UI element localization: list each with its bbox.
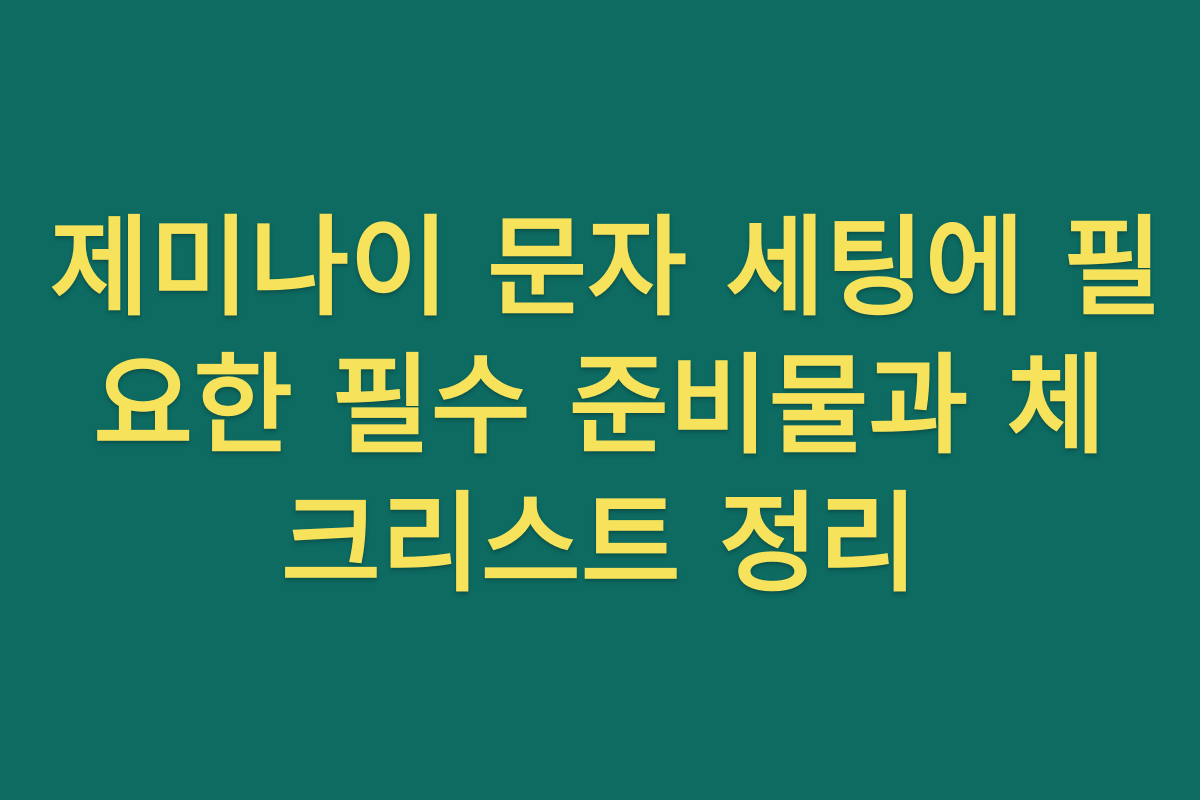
headline-line-2: 요한 필수 준비물과 체 — [50, 338, 1150, 476]
thumbnail-canvas: 제미나이 문자 세팅에 필 요한 필수 준비물과 체 크리스트 정리 — [0, 0, 1200, 800]
headline-line-3: 크리스트 정리 — [50, 476, 1150, 614]
headline-block: 제미나이 문자 세팅에 필 요한 필수 준비물과 체 크리스트 정리 — [50, 200, 1150, 614]
headline-line-1: 제미나이 문자 세팅에 필 — [50, 200, 1150, 338]
